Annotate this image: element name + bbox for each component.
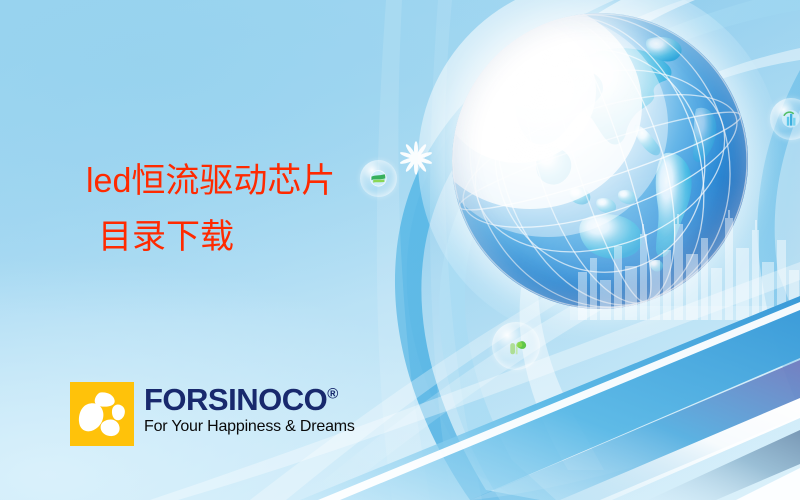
headline-line-2: 目录下载: [98, 220, 335, 254]
logo-text-block: FORSINOCO® For Your Happiness & Dreams: [144, 382, 355, 436]
brand-tagline: For Your Happiness & Dreams: [144, 418, 355, 436]
globe-highlight: [452, 13, 748, 309]
bubble-city-content: [779, 107, 800, 131]
clover-petals-icon: [70, 382, 134, 446]
registered-trademark-icon: ®: [327, 386, 338, 403]
globe-halo: [418, 0, 782, 343]
bubble-tree: [492, 322, 540, 370]
bubble-globe-content: [368, 168, 389, 189]
brand-logo[interactable]: FORSINOCO® For Your Happiness & Dreams: [70, 382, 355, 446]
forsinoco-clover-mark: [70, 382, 134, 446]
brand-name-text: FORSINOCO: [144, 382, 327, 417]
earth-globe: [452, 13, 748, 309]
bubble-globe: [360, 160, 397, 197]
bubble-tree-content: [503, 333, 530, 360]
diagonal-ribbons: [0, 240, 800, 500]
bubble-city: [770, 98, 800, 140]
city-skyline: [570, 210, 800, 320]
globe-surface: [452, 13, 748, 309]
headline-line-1: led恒流驱动芯片: [86, 164, 335, 198]
daisy-flower: [398, 140, 434, 176]
globe-rim: [452, 13, 748, 309]
globe-sphere: [452, 13, 748, 309]
promo-banner: led恒流驱动芯片 目录下载 FORSINOCO®: [0, 0, 800, 500]
headline: led恒流驱动芯片 目录下载: [86, 164, 335, 254]
brand-name: FORSINOCO®: [144, 384, 338, 415]
